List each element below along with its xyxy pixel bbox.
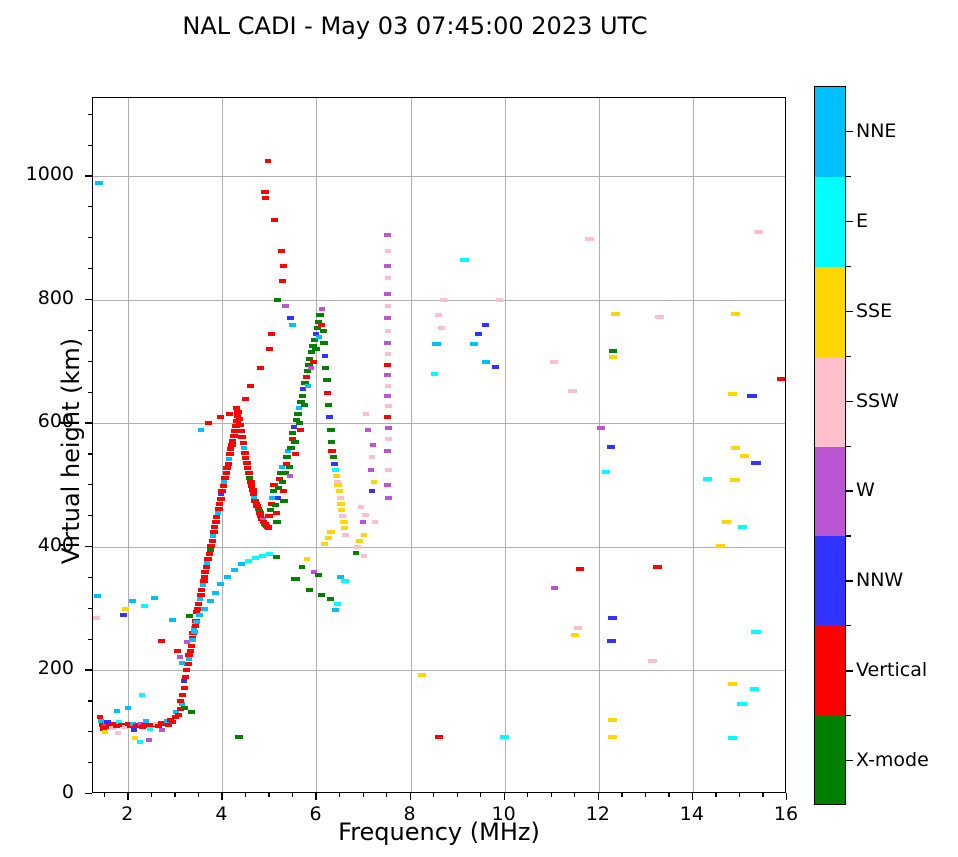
data-point — [235, 735, 243, 739]
data-point — [337, 502, 345, 506]
data-point — [323, 378, 331, 382]
data-point — [305, 384, 311, 388]
colorbar-tick — [846, 221, 853, 222]
colorbar-label-nnw: NNW — [856, 569, 903, 591]
data-point — [384, 483, 391, 487]
data-point — [722, 520, 731, 524]
data-point — [338, 508, 345, 512]
data-point — [252, 556, 259, 560]
data-point — [310, 360, 317, 364]
data-point — [198, 428, 204, 432]
x-tick-minor — [104, 793, 105, 797]
data-point — [728, 682, 737, 686]
data-point — [238, 562, 245, 566]
data-point — [301, 403, 308, 407]
data-point — [294, 412, 302, 416]
data-point — [204, 561, 210, 565]
data-point — [384, 233, 391, 237]
colorbar-segment-sse[interactable] — [815, 267, 845, 357]
data-point — [207, 544, 215, 548]
data-point — [356, 539, 363, 543]
data-point — [257, 366, 264, 370]
data-point — [115, 731, 121, 735]
data-point — [280, 499, 288, 503]
gridline-vertical — [222, 98, 223, 792]
colorbar-label-vertical: Vertical — [856, 659, 927, 681]
data-point — [265, 159, 271, 163]
data-point — [141, 604, 148, 608]
data-point — [384, 449, 391, 453]
data-point — [322, 354, 328, 358]
data-point — [342, 533, 349, 537]
data-point — [226, 452, 234, 456]
data-point — [327, 597, 334, 601]
data-point — [340, 520, 348, 524]
colorbar-segment-w[interactable] — [815, 447, 845, 537]
y-tick-minor — [88, 762, 92, 763]
x-tick-minor — [645, 793, 646, 797]
data-point — [206, 552, 213, 556]
data-point — [93, 616, 100, 620]
data-point — [333, 474, 340, 478]
data-point — [211, 525, 218, 529]
data-point — [223, 466, 231, 470]
data-point — [360, 520, 366, 524]
data-point — [331, 462, 338, 466]
x-tick-minor — [339, 793, 340, 797]
data-point — [291, 577, 300, 581]
data-point — [384, 363, 391, 367]
data-point — [227, 447, 234, 451]
data-point — [147, 727, 153, 731]
data-point — [280, 264, 287, 268]
data-point — [189, 638, 196, 642]
data-point — [221, 480, 227, 484]
data-point — [384, 264, 391, 268]
x-tick — [692, 793, 693, 800]
data-point — [492, 365, 499, 369]
colorbar-segment-nne[interactable] — [815, 87, 845, 177]
data-point — [337, 575, 344, 579]
data-point — [482, 323, 489, 327]
data-point — [231, 568, 238, 572]
data-point — [114, 709, 120, 713]
data-point — [330, 455, 337, 459]
data-point — [236, 423, 244, 427]
data-point — [385, 276, 391, 280]
colorbar-tick — [846, 580, 853, 581]
data-point — [175, 713, 182, 717]
data-point — [196, 613, 203, 617]
data-point — [215, 507, 223, 511]
x-tick-minor — [292, 793, 293, 797]
data-point — [299, 565, 305, 569]
data-point — [151, 596, 158, 600]
colorbar-boundary-tick — [846, 266, 851, 267]
data-point — [289, 431, 296, 435]
data-point — [229, 439, 236, 443]
data-point — [291, 440, 299, 444]
x-tick — [410, 793, 411, 800]
y-tick — [85, 546, 92, 547]
data-point — [179, 693, 186, 697]
data-point — [186, 614, 193, 618]
x-tick-minor — [433, 793, 434, 797]
y-tick — [85, 299, 92, 300]
data-point — [289, 323, 296, 327]
data-point — [611, 312, 620, 316]
data-point — [576, 567, 584, 571]
data-point — [177, 699, 184, 703]
colorbar-segment-nnw[interactable] — [815, 536, 845, 626]
data-point — [224, 575, 231, 579]
data-point — [384, 415, 391, 419]
y-tick-minor — [88, 392, 92, 393]
y-tick-minor — [88, 237, 92, 238]
data-point — [303, 375, 310, 379]
data-point — [608, 718, 617, 722]
data-point — [187, 649, 194, 653]
data-point — [213, 515, 220, 519]
data-point — [188, 644, 195, 648]
x-tick-minor — [268, 793, 269, 797]
x-tick-minor — [245, 793, 246, 797]
gridline-vertical — [505, 98, 506, 792]
data-point — [207, 599, 214, 603]
x-tick-minor — [174, 793, 175, 797]
data-point — [385, 329, 391, 333]
data-point — [353, 551, 359, 555]
gridline-horizontal — [93, 547, 785, 548]
data-point — [287, 446, 295, 450]
x-tick-minor — [386, 793, 387, 797]
data-point — [296, 421, 303, 425]
x-tick-minor — [762, 793, 763, 797]
y-tick-minor — [88, 145, 92, 146]
data-point — [500, 735, 509, 739]
data-point — [238, 435, 246, 439]
data-point — [262, 196, 269, 200]
data-point — [328, 449, 336, 453]
data-point — [716, 544, 725, 548]
data-point — [321, 542, 328, 546]
data-point — [198, 588, 205, 592]
colorbar-boundary-tick — [846, 625, 851, 626]
data-point — [358, 505, 364, 509]
y-tick-minor — [88, 577, 92, 578]
data-point — [703, 477, 712, 481]
data-point — [337, 496, 344, 500]
data-point — [273, 520, 281, 524]
data-point — [371, 480, 377, 484]
colorbar-segment-ssw[interactable] — [815, 357, 845, 447]
data-point — [318, 593, 325, 597]
data-point — [363, 412, 369, 416]
data-point — [286, 465, 293, 469]
x-tick-minor — [480, 793, 481, 797]
data-point — [316, 313, 324, 317]
colorbar-label-ssw: SSW — [856, 390, 899, 412]
data-point — [197, 593, 205, 597]
colorbar-tick — [846, 131, 853, 132]
data-point — [242, 397, 249, 401]
data-point — [283, 455, 291, 459]
data-point — [655, 315, 664, 319]
y-tick-label: 200 — [4, 657, 74, 679]
colorbar-segment-e[interactable] — [815, 177, 845, 267]
gridline-vertical — [316, 98, 317, 792]
data-point — [438, 326, 445, 330]
data-point — [266, 347, 273, 351]
data-point — [602, 470, 610, 474]
gridline-horizontal — [93, 423, 785, 424]
data-point — [653, 565, 662, 569]
x-tick — [315, 793, 316, 800]
data-point — [273, 555, 280, 559]
data-point — [316, 335, 322, 339]
data-point — [325, 536, 332, 540]
data-point — [341, 579, 349, 583]
data-point — [460, 258, 469, 262]
data-point — [159, 728, 165, 732]
data-point — [571, 633, 579, 637]
data-point — [122, 607, 129, 611]
data-point — [751, 630, 761, 634]
data-point — [174, 649, 181, 653]
data-point — [432, 342, 441, 346]
colorbar-label-e: E — [856, 210, 868, 232]
data-point — [328, 440, 335, 444]
data-point — [242, 456, 249, 460]
data-point — [217, 497, 225, 501]
data-point — [201, 570, 209, 574]
y-tick-label: 1000 — [4, 163, 74, 185]
colorbar-segment-x-mode[interactable] — [815, 716, 845, 805]
y-tick-minor — [88, 639, 92, 640]
y-tick — [85, 175, 92, 176]
y-axis-label: Virtual height (km) — [57, 251, 85, 651]
data-point — [551, 586, 558, 590]
data-point — [322, 366, 329, 370]
data-point — [212, 591, 219, 595]
data-point — [362, 513, 369, 517]
colorbar-label-x-mode: X-mode — [856, 749, 929, 771]
x-tick-minor — [457, 793, 458, 797]
data-point — [181, 706, 188, 710]
x-tick-minor — [574, 793, 575, 797]
data-point — [215, 511, 221, 515]
y-tick-minor — [88, 453, 92, 454]
y-tick — [85, 793, 92, 794]
data-point — [470, 342, 478, 346]
data-point — [740, 454, 749, 458]
data-point — [574, 626, 582, 630]
data-point — [754, 230, 763, 234]
data-point — [201, 607, 208, 611]
data-point — [245, 559, 252, 563]
y-tick-minor — [88, 731, 92, 732]
data-point — [158, 639, 165, 643]
data-point — [320, 329, 327, 333]
data-point — [384, 316, 391, 320]
data-point — [191, 630, 198, 634]
data-point — [217, 415, 224, 419]
colorbar-boundary-tick — [846, 715, 851, 716]
data-point — [179, 661, 185, 665]
data-point — [210, 534, 216, 538]
data-point — [332, 468, 339, 472]
data-point — [738, 525, 747, 529]
colorbar-segment-vertical[interactable] — [815, 626, 845, 716]
data-point — [120, 613, 127, 617]
data-point — [327, 530, 335, 534]
data-point — [737, 702, 747, 706]
x-tick-minor — [739, 793, 740, 797]
plot-area[interactable] — [92, 97, 786, 793]
data-point — [568, 389, 577, 393]
x-axis-label: Frequency (MHz) — [92, 818, 786, 846]
colorbar-tick — [846, 490, 853, 491]
data-point — [297, 428, 304, 432]
data-point — [182, 675, 189, 679]
data-point — [280, 489, 287, 493]
data-point — [339, 514, 346, 518]
data-point — [361, 533, 367, 537]
x-tick — [127, 793, 128, 800]
data-point — [241, 451, 249, 455]
data-point — [203, 565, 210, 569]
y-tick — [85, 422, 92, 423]
data-point — [185, 653, 193, 657]
y-tick-minor — [88, 268, 92, 269]
data-point — [183, 668, 190, 672]
colorbar-boundary-tick — [846, 535, 851, 536]
gridline-vertical — [693, 98, 694, 792]
page-title: NAL CADI - May 03 07:45:00 2023 UTC — [0, 12, 830, 40]
data-point — [550, 360, 558, 364]
data-point — [205, 421, 212, 425]
data-point — [279, 480, 286, 484]
data-point — [236, 417, 243, 421]
y-tick-minor — [88, 330, 92, 331]
data-point — [102, 730, 108, 734]
data-point — [247, 480, 255, 484]
data-point — [169, 720, 176, 724]
data-point — [139, 693, 145, 697]
data-point — [326, 415, 333, 419]
x-tick — [504, 793, 505, 800]
data-point — [265, 526, 272, 530]
data-point — [186, 657, 192, 661]
data-point — [440, 298, 447, 302]
data-point — [320, 341, 328, 345]
colorbar-boundary-tick — [846, 356, 851, 357]
data-point — [218, 489, 226, 493]
data-point — [266, 552, 273, 556]
data-point — [278, 249, 285, 253]
data-point — [129, 599, 136, 603]
data-point — [287, 474, 293, 478]
data-point — [95, 181, 103, 185]
data-point — [385, 468, 392, 472]
data-point — [597, 426, 605, 430]
data-point — [607, 445, 615, 449]
data-point — [201, 575, 208, 579]
data-point — [240, 441, 247, 445]
y-tick-minor — [88, 515, 92, 516]
ionogram-figure: NAL CADI - May 03 07:45:00 2023 UTC 2468… — [0, 0, 958, 857]
data-point — [226, 457, 232, 461]
x-tick — [786, 793, 787, 800]
data-point — [327, 428, 335, 432]
data-point — [131, 728, 137, 732]
data-point — [385, 426, 392, 430]
data-point — [188, 710, 195, 714]
data-point — [608, 616, 617, 620]
data-point — [299, 394, 306, 398]
data-point — [238, 429, 245, 433]
colorbar-boundary-tick — [846, 176, 851, 177]
gridline-vertical — [599, 98, 600, 792]
data-point — [223, 471, 230, 475]
data-point — [241, 446, 247, 450]
data-point — [750, 687, 759, 691]
y-tick — [85, 669, 92, 670]
data-point — [482, 360, 490, 364]
data-point — [731, 446, 740, 450]
data-point — [217, 582, 224, 586]
data-point — [146, 738, 152, 742]
data-point — [384, 292, 391, 296]
data-point — [207, 548, 214, 552]
data-point — [418, 673, 426, 677]
data-point — [496, 298, 503, 302]
data-point — [324, 391, 331, 395]
data-point — [234, 410, 242, 414]
data-point — [369, 455, 375, 459]
data-point — [385, 249, 391, 253]
colorbar-label-sse: SSE — [856, 300, 892, 322]
x-tick-minor — [363, 793, 364, 797]
data-point — [292, 452, 299, 456]
data-point — [247, 384, 254, 388]
y-tick-minor — [88, 206, 92, 207]
data-point — [431, 372, 438, 376]
y-tick-minor — [88, 608, 92, 609]
data-point — [609, 355, 617, 359]
gridline-vertical — [411, 98, 412, 792]
y-tick-minor — [88, 114, 92, 115]
data-point — [304, 557, 310, 561]
data-point — [319, 307, 325, 311]
data-point — [385, 304, 391, 308]
data-point — [361, 554, 367, 558]
data-point — [200, 579, 208, 583]
data-point — [365, 428, 371, 432]
data-point — [369, 489, 375, 493]
data-point — [730, 478, 740, 482]
data-point — [225, 462, 232, 466]
data-point — [306, 588, 313, 592]
x-tick — [598, 793, 599, 800]
x-tick — [221, 793, 222, 800]
data-point — [233, 406, 240, 410]
data-point — [354, 545, 361, 549]
data-point — [370, 443, 376, 447]
data-point — [226, 412, 233, 416]
data-point — [243, 461, 251, 465]
colorbar[interactable] — [814, 86, 846, 805]
